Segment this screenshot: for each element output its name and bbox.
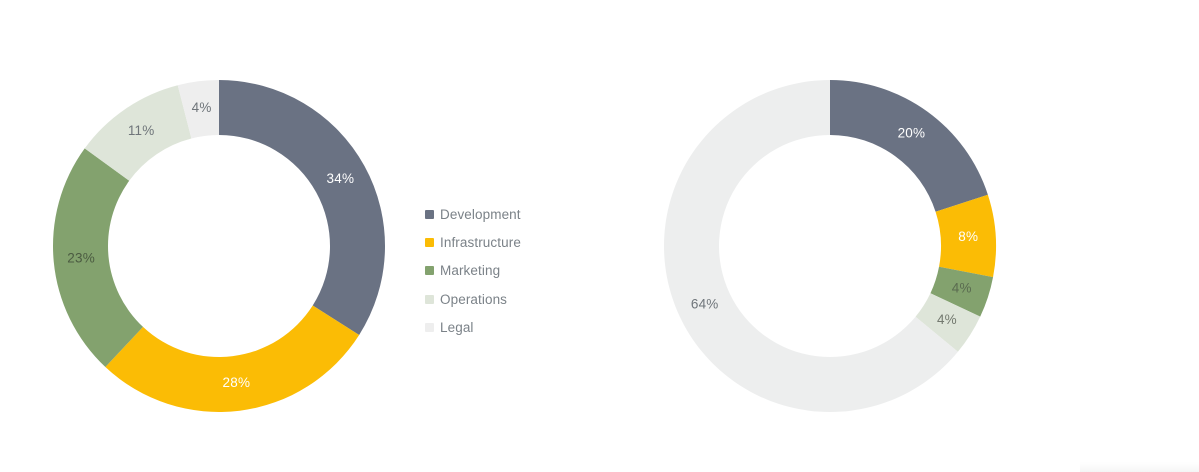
- donut-slice[interactable]: [830, 80, 988, 212]
- legend-item-operations[interactable]: Operations: [425, 285, 521, 313]
- slice-value-label: 4%: [192, 100, 212, 115]
- legend-label-development: Development: [440, 207, 521, 222]
- slice-value-label: 4%: [952, 280, 972, 295]
- donut-left-svg: 34%28%23%11%4%: [53, 80, 385, 412]
- legend-swatch-operations: [425, 295, 434, 304]
- slice-value-label: 23%: [67, 251, 95, 266]
- chart-canvas: 34%28%23%11%4% Development Infrastructur…: [0, 0, 1199, 472]
- legend-label-infrastructure: Infrastructure: [440, 235, 521, 250]
- legend-item-legal[interactable]: Legal: [425, 313, 521, 341]
- slice-value-label: 20%: [898, 126, 926, 141]
- slice-value-label: 28%: [223, 375, 251, 390]
- donut-slice[interactable]: [105, 305, 359, 412]
- slice-value-label: 34%: [327, 171, 355, 186]
- donut-slice[interactable]: [219, 80, 385, 335]
- legend-swatch-development: [425, 210, 434, 219]
- legend-label-operations: Operations: [440, 292, 507, 307]
- donut-right-graphic: 20%8%4%4%64%: [664, 80, 996, 412]
- donut-left-graphic: 34%28%23%11%4%: [53, 80, 385, 412]
- legend-swatch-marketing: [425, 266, 434, 275]
- slice-value-label: 64%: [691, 297, 719, 312]
- donut-right-svg: 20%8%4%4%64%: [664, 80, 996, 412]
- legend-left: Development Infrastructure Marketing Ope…: [425, 200, 521, 341]
- legend-item-marketing[interactable]: Marketing: [425, 257, 521, 285]
- legend-item-infrastructure[interactable]: Infrastructure: [425, 228, 521, 256]
- legend-label-marketing: Marketing: [440, 263, 500, 278]
- donut-chart-spending-allocation: 34%28%23%11%4% Development Infrastructur…: [0, 0, 600, 472]
- legend-label-legal: Legal: [440, 320, 474, 335]
- legend-swatch-legal: [425, 323, 434, 332]
- donut-chart-token-distribution: 20%8%4%4%64% Public sale Round 1 Team Ad…: [600, 0, 1199, 472]
- slice-value-label: 11%: [128, 123, 155, 138]
- slice-value-label: 4%: [937, 312, 957, 327]
- legend-swatch-infrastructure: [425, 238, 434, 247]
- slice-value-label: 8%: [958, 229, 978, 244]
- legend-item-development[interactable]: Development: [425, 200, 521, 228]
